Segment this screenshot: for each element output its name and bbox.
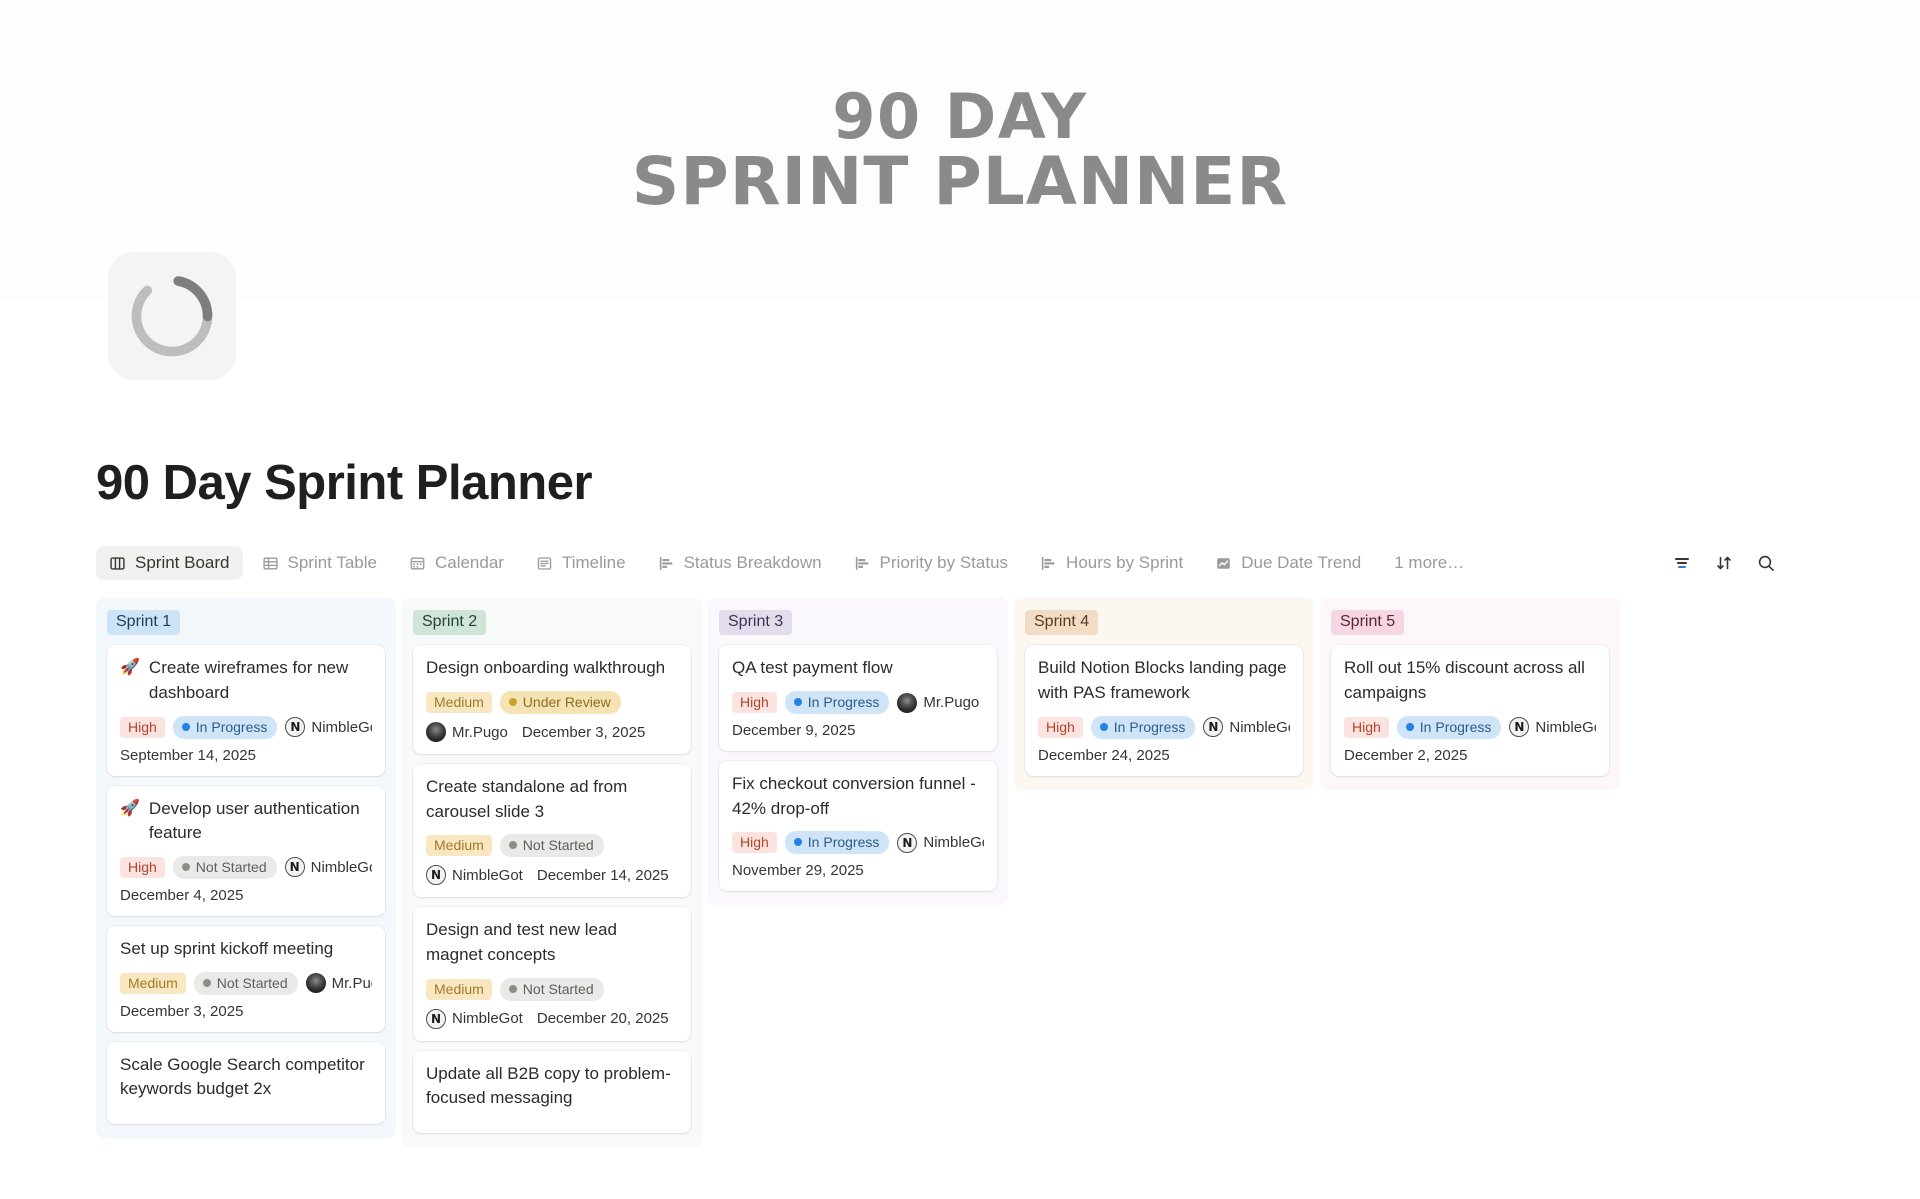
- task-title: Set up sprint kickoff meeting: [120, 937, 333, 962]
- priority-badge[interactable]: Medium: [120, 973, 186, 994]
- task-card[interactable]: 🚀Create wireframes for new dashboardHigh…: [107, 645, 385, 775]
- tab-sprint-table[interactable]: Sprint Table: [249, 546, 390, 580]
- column-title-chip[interactable]: Sprint 5: [1331, 610, 1404, 635]
- task-card[interactable]: Design and test new lead magnet concepts…: [413, 907, 691, 1040]
- page-icon[interactable]: [108, 252, 236, 380]
- bar-chart-icon: [1040, 555, 1057, 572]
- assignee[interactable]: NNimbleGot: [285, 717, 372, 737]
- board-column: Sprint 2Design onboarding walkthroughMed…: [402, 598, 702, 1147]
- column-header: Sprint 2: [413, 610, 691, 635]
- task-card-title-row: QA test payment flow: [732, 656, 984, 681]
- tab-status-breakdown[interactable]: Status Breakdown: [645, 546, 835, 580]
- due-date[interactable]: December 4, 2025: [120, 887, 372, 904]
- column-title-chip[interactable]: Sprint 3: [719, 610, 792, 635]
- tab-hours-by-sprint[interactable]: Hours by Sprint: [1027, 546, 1196, 580]
- status-dot-icon: [182, 723, 190, 731]
- due-date[interactable]: September 14, 2025: [120, 747, 372, 764]
- assignee[interactable]: NNimbleGot: [426, 1009, 523, 1029]
- table-icon: [262, 555, 279, 572]
- tab-priority-by-status[interactable]: Priority by Status: [841, 546, 1022, 580]
- status-pill[interactable]: In Progress: [173, 716, 278, 739]
- task-card[interactable]: Create standalone ad from carousel slide…: [413, 764, 691, 897]
- task-card[interactable]: Scale Google Search competitor keywords …: [107, 1042, 385, 1124]
- task-meta-row: MediumNot Started: [426, 978, 678, 1001]
- tab-calendar[interactable]: Calendar: [396, 546, 517, 580]
- tab-label: Priority by Status: [880, 553, 1009, 573]
- task-title: Develop user authentication feature: [149, 797, 372, 846]
- priority-badge[interactable]: High: [1038, 717, 1083, 738]
- column-header: Sprint 5: [1331, 610, 1609, 635]
- assignee-name: NimbleGot: [452, 867, 523, 884]
- timeline-icon: [536, 555, 553, 572]
- task-meta-row: HighIn ProgressNNimbleGot: [1038, 716, 1290, 739]
- task-card-title-row: Set up sprint kickoff meeting: [120, 937, 372, 962]
- sort-icon[interactable]: [1714, 553, 1734, 573]
- due-date[interactable]: December 9, 2025: [732, 722, 984, 739]
- task-title: Create standalone ad from carousel slide…: [426, 775, 678, 824]
- assignee-name: NimbleGot: [923, 834, 984, 851]
- cover-title-line2: SPRINT PLANNER: [632, 148, 1288, 215]
- task-card[interactable]: Design onboarding walkthroughMediumUnder…: [413, 645, 691, 754]
- column-header: Sprint 1: [107, 610, 385, 635]
- board-column: Sprint 5Roll out 15% discount across all…: [1320, 598, 1620, 790]
- task-title: Scale Google Search competitor keywords …: [120, 1053, 372, 1102]
- avatar: N: [1509, 717, 1529, 737]
- filter-icon[interactable]: [1672, 553, 1692, 573]
- status-pill[interactable]: Not Started: [500, 978, 604, 1001]
- tab-label: Status Breakdown: [684, 553, 822, 573]
- avatar: N: [1203, 717, 1223, 737]
- board-column: Sprint 1🚀Create wireframes for new dashb…: [96, 598, 396, 1138]
- task-card-title-row: Update all B2B copy to problem-focused m…: [426, 1062, 678, 1111]
- status-label: In Progress: [1114, 719, 1186, 735]
- task-title: Design onboarding walkthrough: [426, 656, 665, 681]
- due-date[interactable]: November 29, 2025: [732, 862, 984, 879]
- board-column: Sprint 4Build Notion Blocks landing page…: [1014, 598, 1314, 790]
- status-pill[interactable]: In Progress: [785, 831, 890, 854]
- task-title: Design and test new lead magnet concepts: [426, 918, 678, 967]
- assignee[interactable]: Mr.Pugo: [897, 693, 979, 713]
- sprint-board: Sprint 1🚀Create wireframes for new dashb…: [96, 598, 1920, 1199]
- tab-label: Sprint Board: [135, 553, 230, 573]
- priority-badge[interactable]: High: [732, 832, 777, 853]
- assignee-name: Mr.Pugo: [452, 724, 508, 741]
- task-assignee-date-row: Mr.PugoDecember 3, 2025: [426, 722, 678, 742]
- column-title-chip[interactable]: Sprint 1: [107, 610, 180, 635]
- tab-label: Timeline: [562, 553, 626, 573]
- task-card-title-row: Fix checkout conversion funnel - 42% dro…: [732, 772, 984, 821]
- column-title-chip[interactable]: Sprint 2: [413, 610, 486, 635]
- tab-label: Sprint Table: [288, 553, 377, 573]
- status-pill[interactable]: Under Review: [500, 691, 621, 714]
- status-pill[interactable]: In Progress: [785, 691, 890, 714]
- calendar-icon: [409, 555, 426, 572]
- assignee-name: NimbleGot: [311, 719, 372, 736]
- task-card[interactable]: Fix checkout conversion funnel - 42% dro…: [719, 761, 997, 891]
- status-pill[interactable]: Not Started: [500, 834, 604, 857]
- priority-badge[interactable]: High: [732, 692, 777, 713]
- due-date[interactable]: December 2, 2025: [1344, 747, 1596, 764]
- assignee[interactable]: NNimbleGot: [897, 833, 984, 853]
- assignee-name: NimbleGot: [1535, 719, 1596, 736]
- task-title: Roll out 15% discount across all campaig…: [1344, 656, 1596, 705]
- task-meta-row: HighIn ProgressNNimbleGot: [1344, 716, 1596, 739]
- task-meta-row: MediumUnder Review: [426, 691, 678, 714]
- rocket-icon: 🚀: [120, 656, 140, 679]
- assignee[interactable]: NNimbleGot: [1203, 717, 1290, 737]
- task-title: Update all B2B copy to problem-focused m…: [426, 1062, 678, 1111]
- due-date[interactable]: December 3, 2025: [120, 1003, 372, 1020]
- column-header: Sprint 4: [1025, 610, 1303, 635]
- priority-badge[interactable]: Medium: [426, 979, 492, 1000]
- assignee-name: NimbleGot: [1229, 719, 1290, 736]
- notion-page: 90 DAY SPRINT PLANNER 90 Day Sprint Plan…: [0, 0, 1920, 1199]
- search-icon[interactable]: [1756, 553, 1776, 573]
- priority-badge[interactable]: Medium: [426, 835, 492, 856]
- assignee-name: NimbleGot: [452, 1010, 523, 1027]
- status-label: Not Started: [523, 981, 594, 997]
- task-card-title-row: 🚀Create wireframes for new dashboard: [120, 656, 372, 705]
- tab-label: Calendar: [435, 553, 504, 573]
- page-title[interactable]: 90 Day Sprint Planner: [96, 455, 592, 511]
- avatar: [426, 722, 446, 742]
- assignee-name: Mr.Pugo: [332, 975, 372, 992]
- task-title: Build Notion Blocks landing page with PA…: [1038, 656, 1290, 705]
- bar-chart-icon: [854, 555, 871, 572]
- column-title-chip[interactable]: Sprint 4: [1025, 610, 1098, 635]
- progress-ring-icon: [124, 268, 220, 364]
- task-card-title-row: Design and test new lead magnet concepts: [426, 918, 678, 967]
- task-meta-row: MediumNot Started: [426, 834, 678, 857]
- task-card[interactable]: 🚀Develop user authentication featureHigh…: [107, 786, 385, 916]
- due-date[interactable]: December 24, 2025: [1038, 747, 1290, 764]
- status-label: In Progress: [808, 694, 880, 710]
- status-pill[interactable]: Not Started: [194, 972, 298, 995]
- cover-title: 90 DAY SPRINT PLANNER: [632, 85, 1288, 216]
- status-label: In Progress: [1420, 719, 1492, 735]
- task-title: Fix checkout conversion funnel - 42% dro…: [732, 772, 984, 821]
- assignee[interactable]: Mr.Pugo: [306, 973, 372, 993]
- task-card[interactable]: Build Notion Blocks landing page with PA…: [1025, 645, 1303, 775]
- task-card-title-row: Design onboarding walkthrough: [426, 656, 678, 681]
- task-card-title-row: Build Notion Blocks landing page with PA…: [1038, 656, 1290, 705]
- status-dot-icon: [1406, 723, 1414, 731]
- task-card-title-row: Create standalone ad from carousel slide…: [426, 775, 678, 824]
- priority-badge[interactable]: High: [1344, 717, 1389, 738]
- due-date[interactable]: December 14, 2025: [537, 867, 669, 884]
- bar-chart-icon: [658, 555, 675, 572]
- tab-sprint-board[interactable]: Sprint Board: [96, 546, 243, 580]
- board-toolbar: [1672, 553, 1886, 573]
- priority-badge[interactable]: High: [120, 857, 165, 878]
- status-dot-icon: [794, 698, 802, 706]
- priority-badge[interactable]: High: [120, 717, 165, 738]
- avatar: N: [426, 865, 446, 885]
- priority-badge[interactable]: Medium: [426, 692, 492, 713]
- task-meta-row: HighNot StartedNNimbleGot: [120, 856, 372, 879]
- column-header: Sprint 3: [719, 610, 997, 635]
- status-dot-icon: [509, 985, 517, 993]
- status-pill[interactable]: Not Started: [173, 856, 277, 879]
- rocket-icon: 🚀: [120, 797, 140, 820]
- status-label: Not Started: [196, 859, 267, 875]
- status-pill[interactable]: In Progress: [1091, 716, 1196, 739]
- task-card-title-row: 🚀Develop user authentication feature: [120, 797, 372, 846]
- status-label: Not Started: [217, 975, 288, 991]
- cover-title-line1: 90 DAY: [632, 85, 1288, 148]
- due-date[interactable]: December 20, 2025: [537, 1010, 669, 1027]
- status-dot-icon: [794, 838, 802, 846]
- avatar: [306, 973, 326, 993]
- task-meta-row: HighIn ProgressNNimbleGot: [120, 716, 372, 739]
- status-label: In Progress: [196, 719, 268, 735]
- status-pill[interactable]: In Progress: [1397, 716, 1502, 739]
- tab-label: Hours by Sprint: [1066, 553, 1183, 573]
- status-dot-icon: [182, 863, 190, 871]
- status-label: In Progress: [808, 834, 880, 850]
- board-icon: [109, 555, 126, 572]
- tab-due-date-trend[interactable]: Due Date Trend: [1202, 546, 1374, 580]
- page-cover: 90 DAY SPRINT PLANNER: [0, 0, 1920, 300]
- status-dot-icon: [509, 698, 517, 706]
- task-title: Create wireframes for new dashboard: [149, 656, 372, 705]
- task-meta-row: HighIn ProgressNNimbleGot: [732, 831, 984, 854]
- status-dot-icon: [509, 841, 517, 849]
- task-assignee-date-row: NNimbleGotDecember 20, 2025: [426, 1009, 678, 1029]
- assignee-name: Mr.Pugo: [923, 694, 979, 711]
- status-dot-icon: [1100, 723, 1108, 731]
- tab-timeline[interactable]: Timeline: [523, 546, 639, 580]
- task-card[interactable]: Set up sprint kickoff meetingMediumNot S…: [107, 926, 385, 1032]
- status-dot-icon: [203, 979, 211, 987]
- assignee-name: NimbleGot: [311, 859, 372, 876]
- line-chart-icon: [1215, 555, 1232, 572]
- task-card[interactable]: Roll out 15% discount across all campaig…: [1331, 645, 1609, 775]
- task-title: QA test payment flow: [732, 656, 893, 681]
- board-column: Sprint 3QA test payment flowHighIn Progr…: [708, 598, 1008, 905]
- avatar: [897, 693, 917, 713]
- view-tabs: Sprint BoardSprint TableCalendarTimeline…: [96, 540, 1886, 586]
- task-card[interactable]: QA test payment flowHighIn ProgressMr.Pu…: [719, 645, 997, 751]
- avatar: N: [285, 717, 305, 737]
- tab-label: Due Date Trend: [1241, 553, 1361, 573]
- task-card-title-row: Scale Google Search competitor keywords …: [120, 1053, 372, 1102]
- tabs-more-button[interactable]: 1 more…: [1384, 553, 1474, 573]
- assignee[interactable]: NNimbleGot: [285, 857, 372, 877]
- status-label: Not Started: [523, 837, 594, 853]
- assignee[interactable]: NNimbleGot: [1509, 717, 1596, 737]
- avatar: N: [285, 857, 305, 877]
- assignee[interactable]: Mr.Pugo: [426, 722, 508, 742]
- due-date[interactable]: December 3, 2025: [522, 724, 645, 741]
- task-assignee-date-row: NNimbleGotDecember 14, 2025: [426, 865, 678, 885]
- assignee[interactable]: NNimbleGot: [426, 865, 523, 885]
- task-card-title-row: Roll out 15% discount across all campaig…: [1344, 656, 1596, 705]
- task-meta-row: MediumNot StartedMr.Pugo: [120, 972, 372, 995]
- avatar: N: [426, 1009, 446, 1029]
- avatar: N: [897, 833, 917, 853]
- status-label: Under Review: [523, 694, 611, 710]
- task-meta-row: HighIn ProgressMr.Pugo: [732, 691, 984, 714]
- task-card[interactable]: Update all B2B copy to problem-focused m…: [413, 1051, 691, 1133]
